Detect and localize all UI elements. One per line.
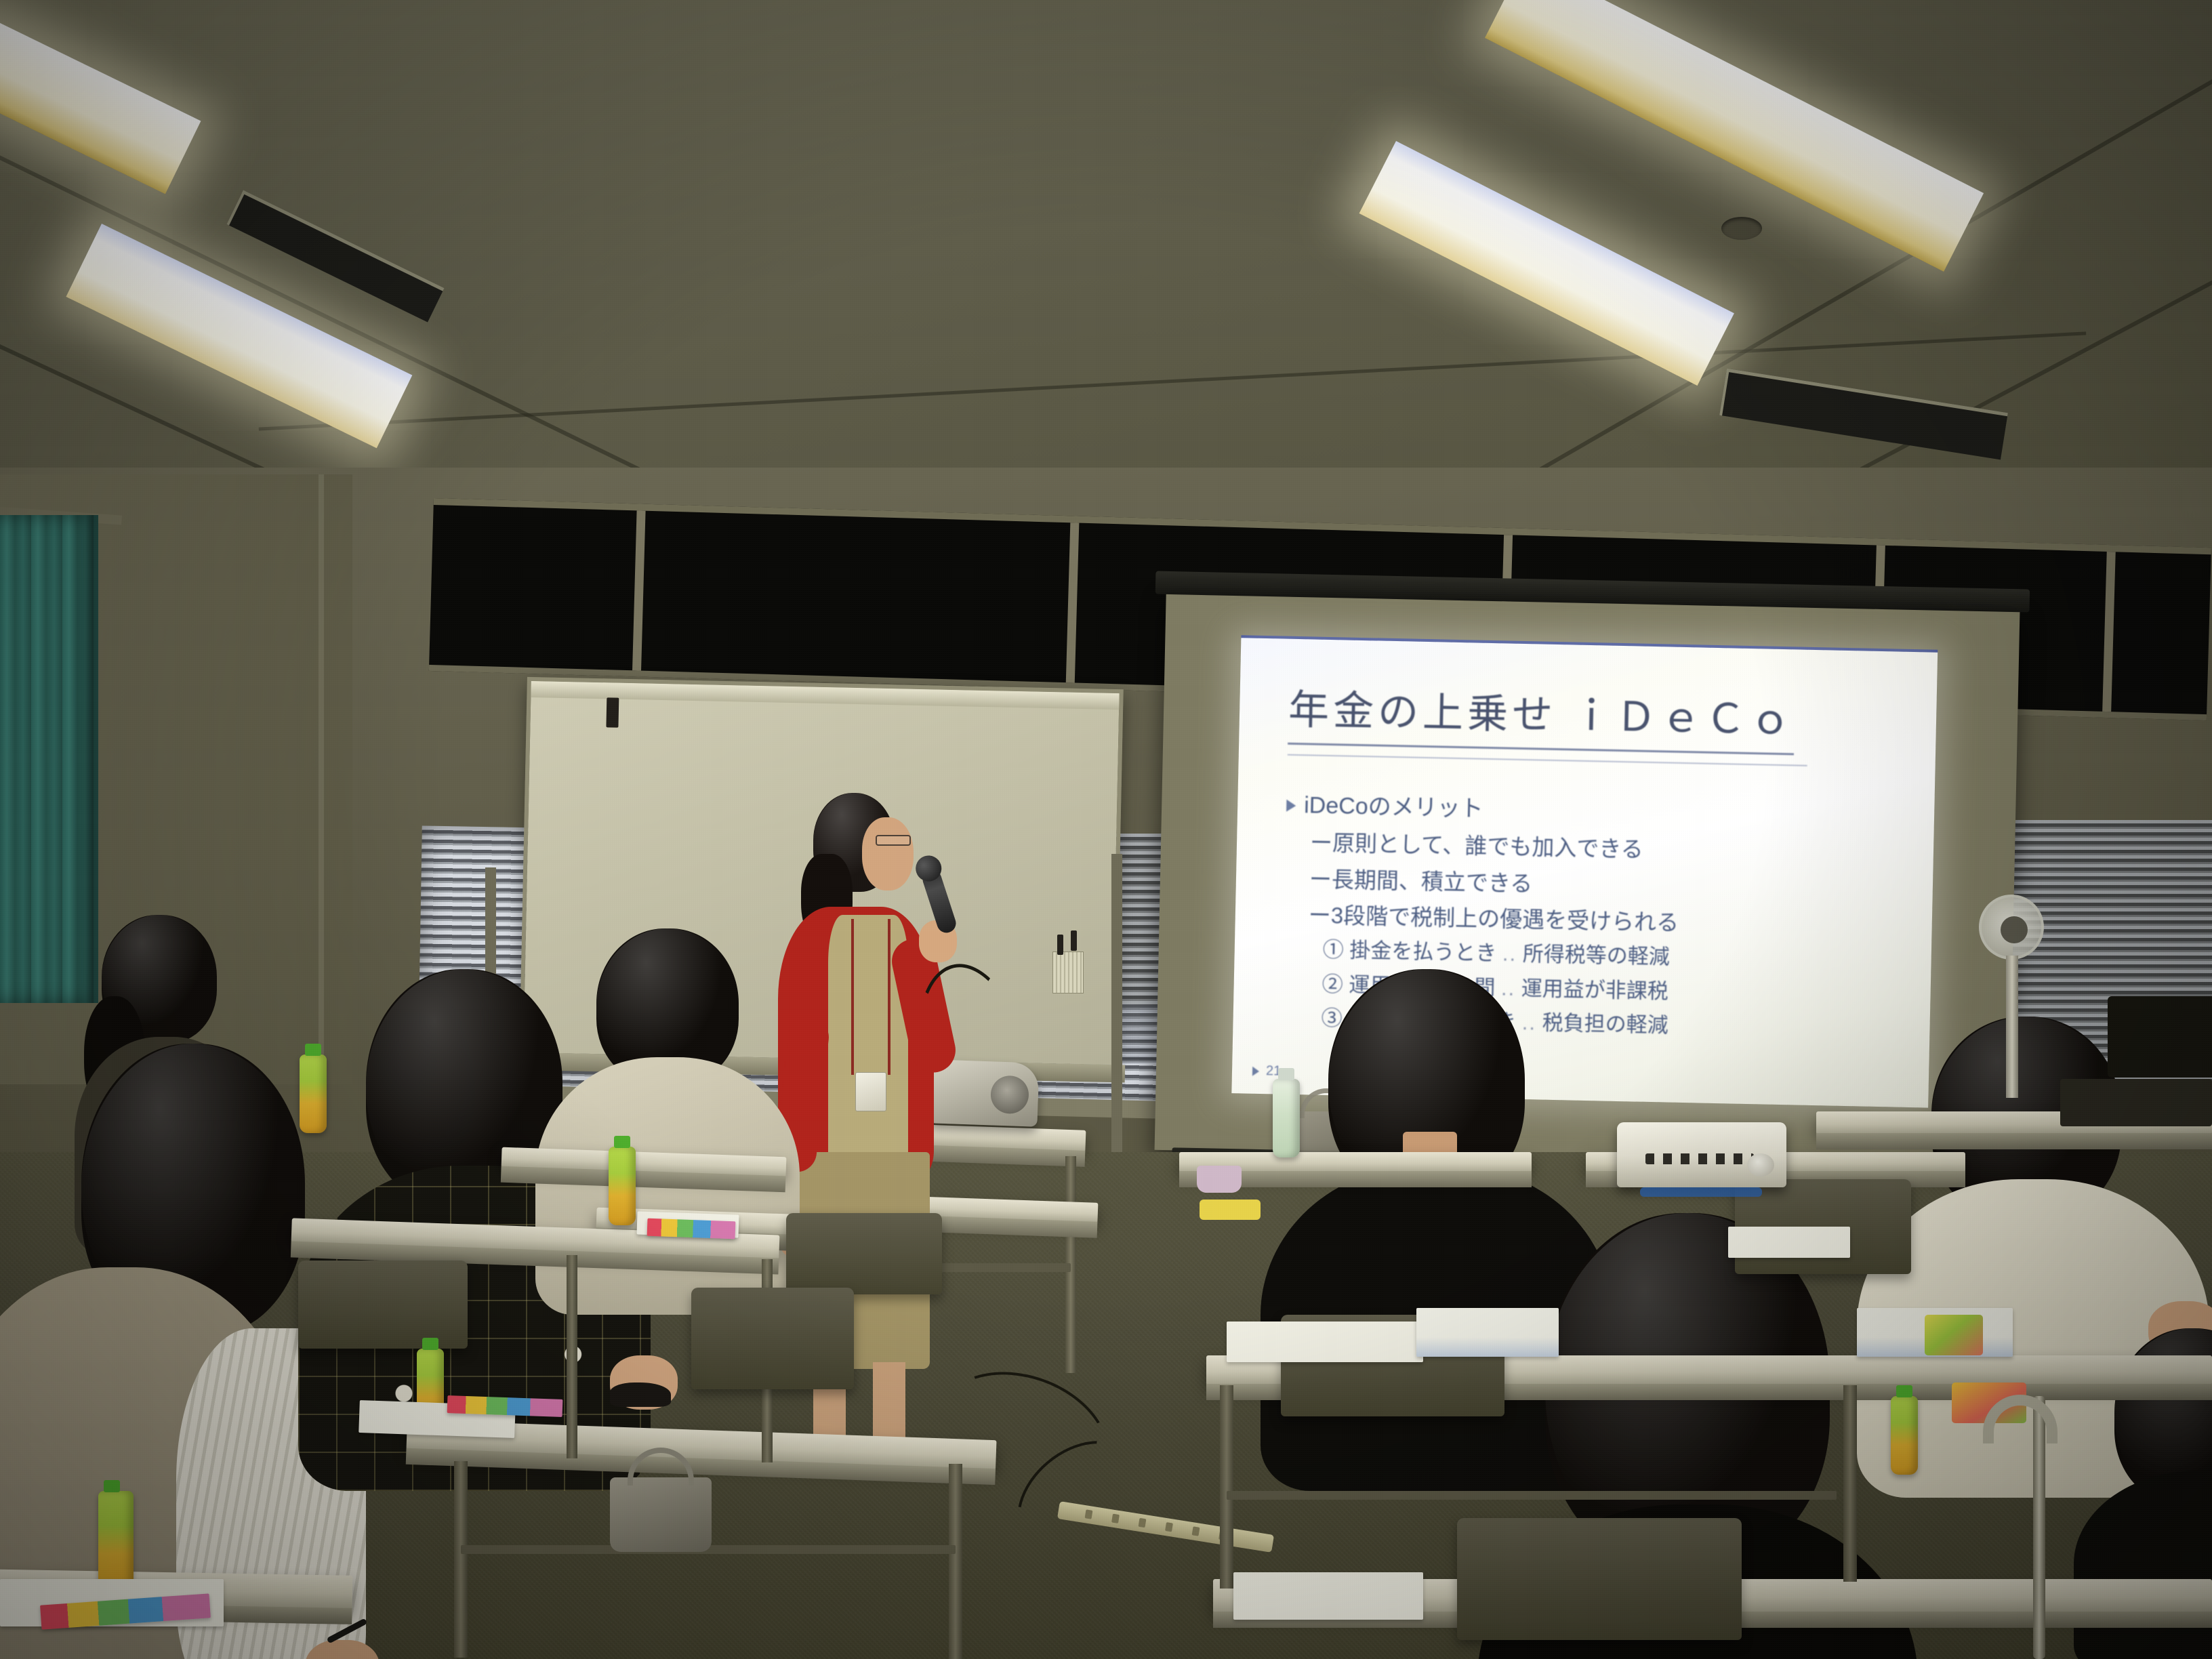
attendee-shoe	[610, 1382, 671, 1407]
desk-leg	[567, 1255, 577, 1458]
projector-ports	[1645, 1153, 1754, 1164]
slide-title-rule	[1288, 754, 1807, 766]
triangle-bullet-icon	[1252, 1066, 1259, 1076]
presenter-face	[862, 817, 914, 890]
handout-paper[interactable]	[1233, 1572, 1423, 1620]
window-mullion	[632, 510, 646, 670]
ceiling-speaker-icon	[1721, 217, 1762, 240]
fan-head	[1979, 895, 2044, 960]
cup[interactable]	[1197, 1166, 1242, 1193]
handout-paper[interactable]	[1227, 1322, 1423, 1362]
bottle-cap	[1896, 1385, 1912, 1397]
desk-leg	[949, 1464, 962, 1659]
projector-lens-icon	[1747, 1153, 1774, 1176]
window-mullion	[2102, 552, 2116, 712]
projector-cable-bundle	[1640, 1187, 1762, 1197]
slide-item-dots: ..	[1502, 942, 1517, 966]
green-tea-bottle[interactable]	[300, 1054, 327, 1133]
pencil-case[interactable]	[1200, 1200, 1261, 1220]
marker-pen	[1057, 935, 1063, 955]
marker-pen	[1071, 930, 1077, 951]
eyeglasses-icon	[876, 835, 911, 846]
slide-item-value: 税負担の軽減	[1542, 1011, 1668, 1038]
desk-front-panel	[1816, 1133, 2212, 1149]
handout-paper[interactable]	[1728, 1227, 1850, 1258]
chair[interactable]	[298, 1261, 468, 1349]
desk-leg	[1843, 1385, 1857, 1582]
handbag[interactable]	[610, 1477, 712, 1552]
triangle-bullet-icon	[1286, 799, 1296, 811]
desk-leg	[454, 1461, 468, 1658]
photo-scene: 年金の上乗せ ｉＤｅＣｏ iDeCoのメリット ー原則として、誰でも加入できる …	[0, 0, 2212, 1659]
window-curtain	[0, 515, 98, 1003]
fan-hub-icon	[2001, 916, 2028, 943]
wall-corner-highlight	[319, 474, 324, 1084]
equipment-box	[2060, 1079, 2212, 1126]
green-tea-bottle[interactable]	[609, 1147, 636, 1225]
marker-pen-holder	[1052, 951, 1084, 994]
bottle-cap	[104, 1480, 120, 1492]
desk-rail	[1227, 1491, 1837, 1500]
bottle-cap	[614, 1136, 630, 1148]
slide-item-value: 所得税等の軽減	[1522, 942, 1670, 969]
bottle-cap	[305, 1044, 321, 1056]
equipment-box	[2108, 996, 2212, 1078]
window-mullion	[1066, 523, 1080, 682]
projector[interactable]	[1617, 1122, 1786, 1187]
snack-package[interactable]	[1925, 1315, 1983, 1355]
chair[interactable]	[691, 1288, 854, 1389]
water-bottle[interactable]	[1273, 1079, 1300, 1158]
lanyard-strap	[888, 919, 890, 1075]
green-tea-bottle[interactable]	[1891, 1396, 1918, 1475]
slide-bullet-level1-text: iDeCoのメリット	[1304, 787, 1484, 828]
slide-item-dots: ..	[1501, 976, 1516, 1000]
slide-item-dots: ..	[1521, 1010, 1536, 1034]
slide-title: 年金の上乗せ ｉＤｅＣｏ	[1288, 677, 1795, 756]
whiteboard-magnet	[606, 697, 619, 727]
handout-paper[interactable]	[1416, 1308, 1559, 1357]
slide-item-number: ①	[1322, 938, 1344, 962]
bottle-cap	[1278, 1068, 1294, 1080]
colorful-handout[interactable]	[647, 1218, 736, 1240]
name-badge	[855, 1072, 886, 1111]
slide-item-label: 掛金を払うとき	[1349, 939, 1497, 966]
slide-item-value: 運用益が非課税	[1521, 977, 1668, 1004]
slide-item-number: ②	[1322, 972, 1343, 996]
bottle-cap	[422, 1338, 438, 1350]
green-tea-bottle[interactable]	[98, 1491, 134, 1593]
lanyard-strap	[851, 919, 854, 1075]
chair[interactable]	[786, 1213, 942, 1294]
fan-pole	[2006, 956, 2018, 1098]
slide-page-number: 21	[1252, 1063, 1282, 1080]
desk-leg	[1220, 1385, 1233, 1589]
chair[interactable]	[1457, 1518, 1742, 1640]
